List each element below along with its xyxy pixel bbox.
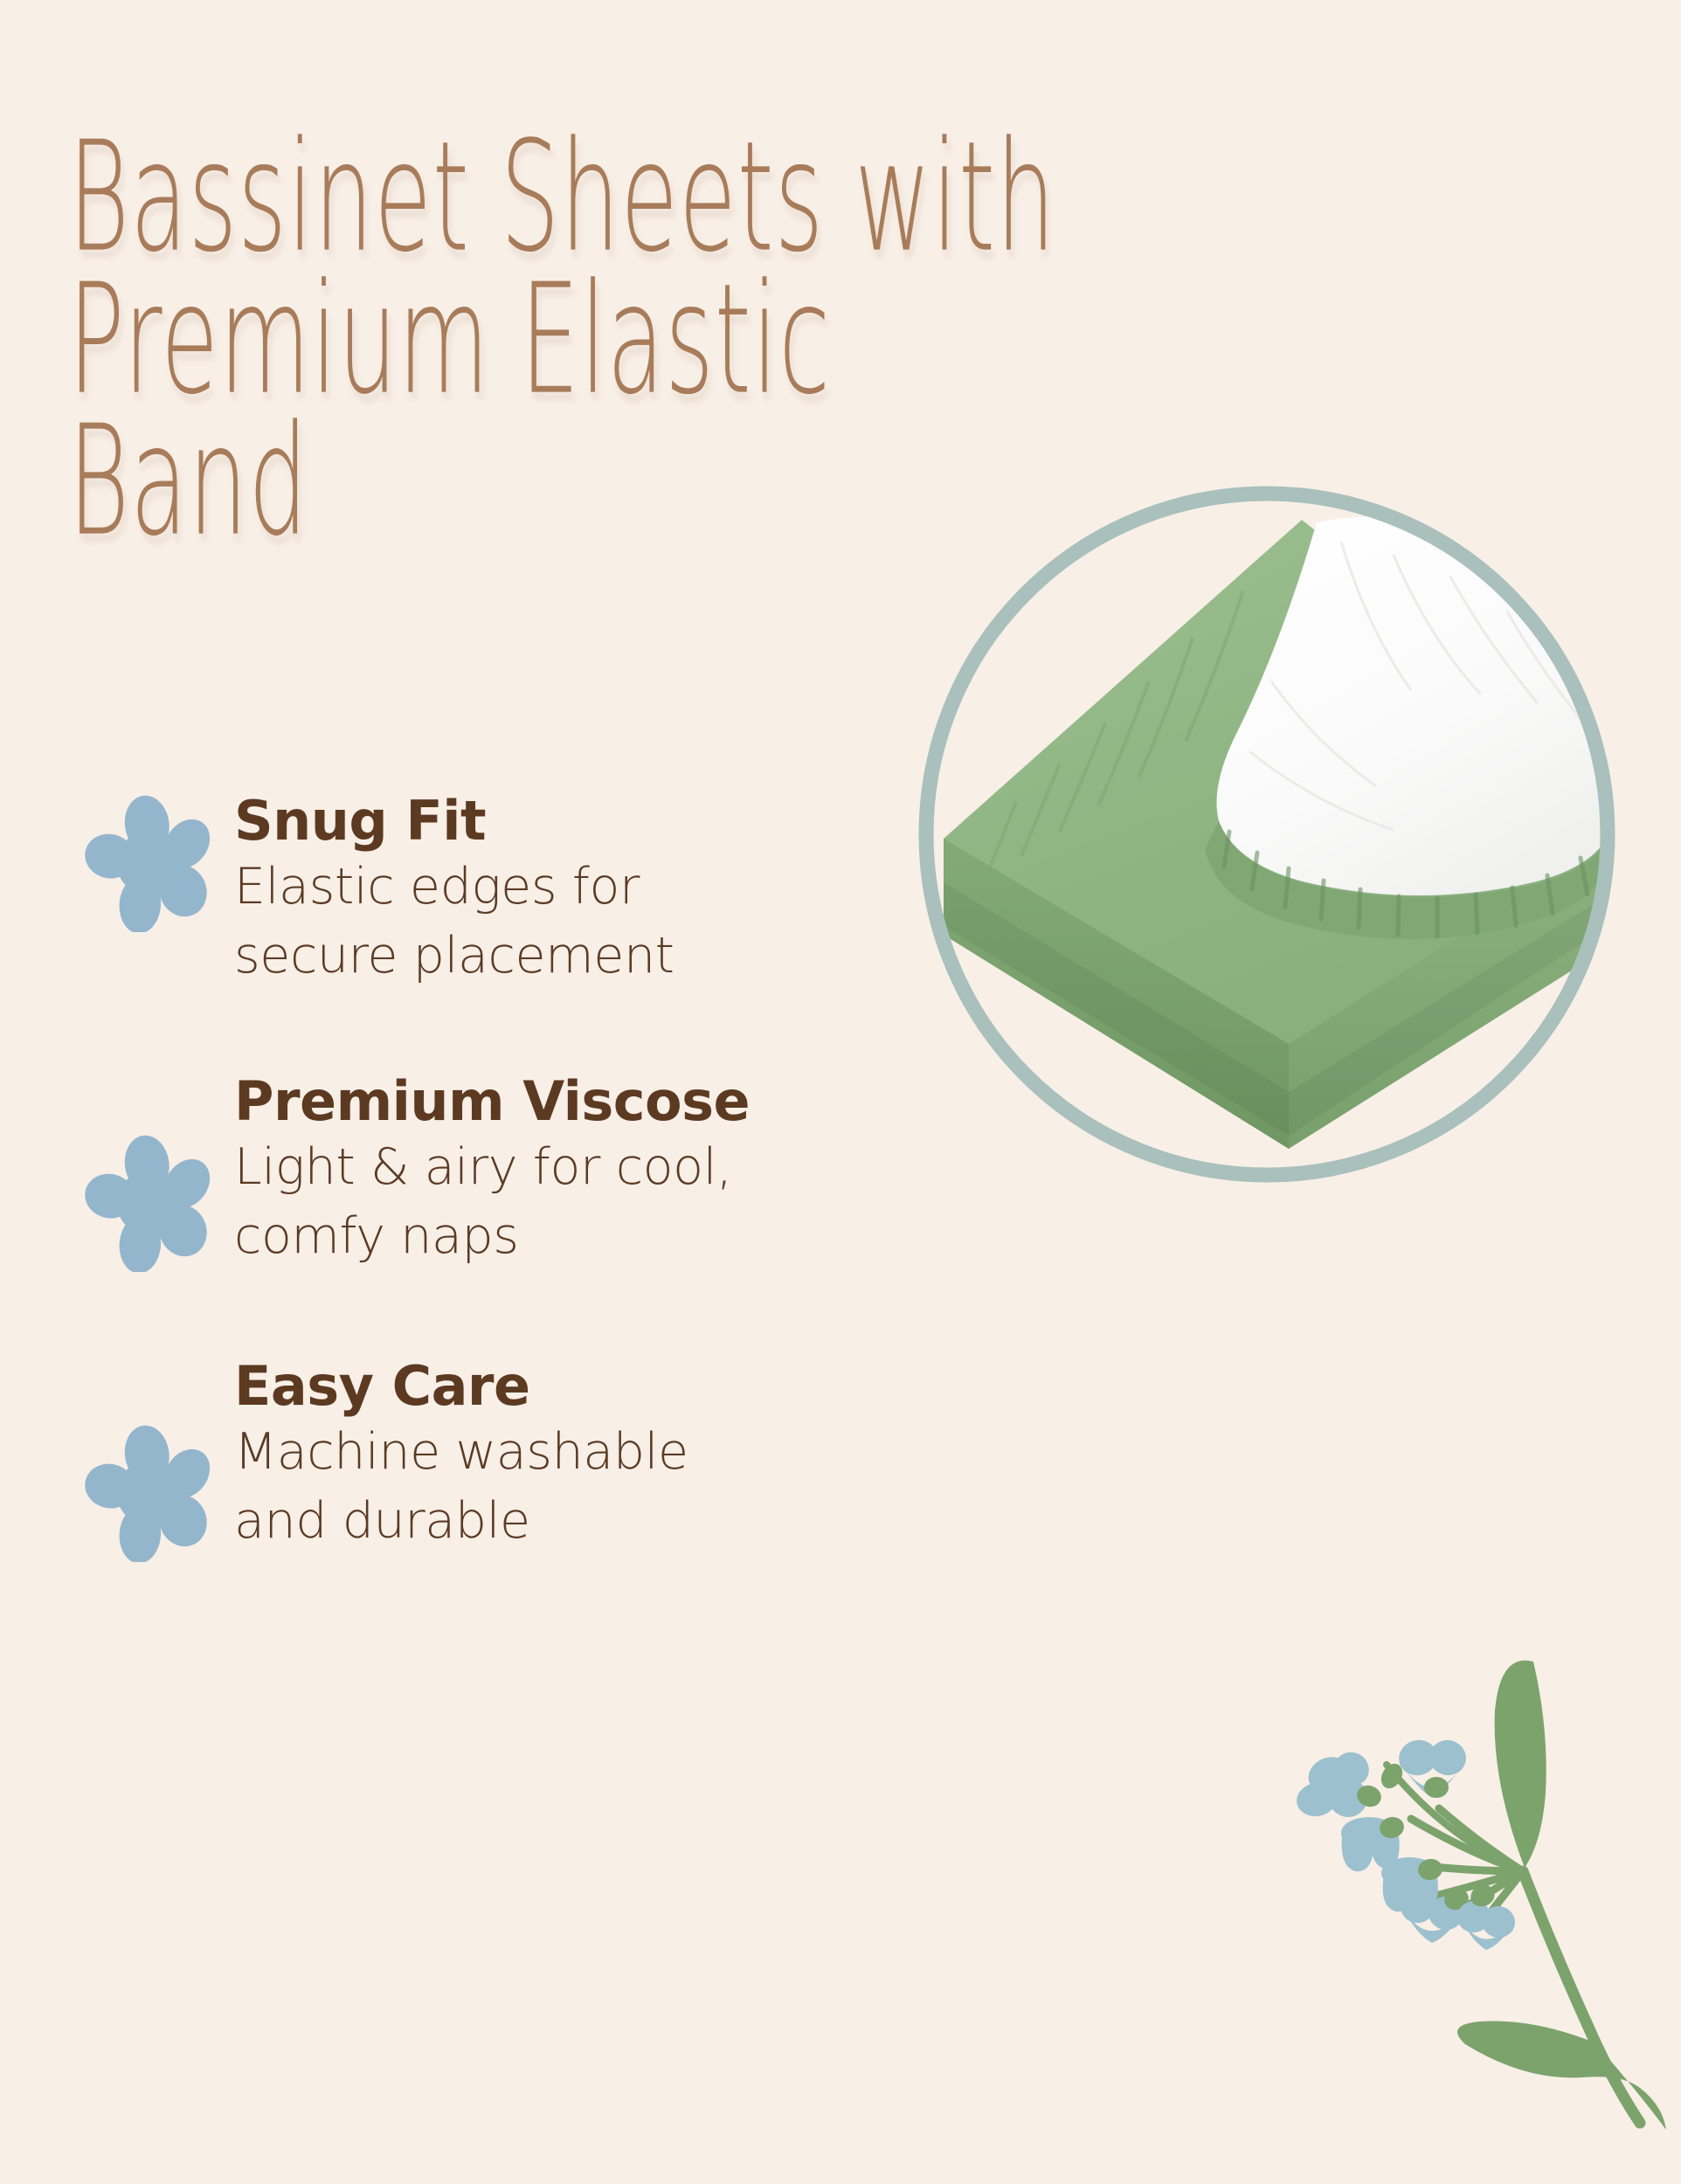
flower-icon-wrap-2 bbox=[68, 1071, 234, 1272]
feature-text-2: Premium Viscose Light & airy for cool, c… bbox=[234, 1071, 942, 1271]
feature-title: Premium Viscose bbox=[234, 1071, 942, 1131]
feature-text-3: Easy Care Machine washable and durable bbox=[234, 1356, 942, 1556]
feature-desc-line-1: Machine washable bbox=[234, 1418, 898, 1487]
flower-icon bbox=[82, 794, 220, 932]
feature-item-snug-fit: Snug Fit Elastic edges for secure placem… bbox=[68, 791, 942, 991]
product-photo-content bbox=[904, 472, 1629, 1197]
feature-desc-line-2: comfy naps bbox=[234, 1202, 898, 1271]
feature-desc-line-1: Light & airy for cool, bbox=[234, 1133, 898, 1202]
poster-canvas: Bassinet Sheets with Premium Elastic Ban… bbox=[0, 0, 1681, 2184]
feature-desc-line-1: Elastic edges for bbox=[234, 853, 898, 922]
bell-flower-1 bbox=[1294, 1746, 1375, 1821]
feature-desc-line-2: and durable bbox=[234, 1487, 898, 1556]
flower-icon-wrap-3 bbox=[68, 1356, 234, 1562]
feature-item-easy-care: Easy Care Machine washable and durable bbox=[68, 1356, 942, 1562]
upper-leaf bbox=[1495, 1661, 1546, 1868]
feature-desc-line-2: secure placement bbox=[234, 922, 898, 991]
flower-icon-wrap-1 bbox=[68, 791, 234, 932]
product-image-circle bbox=[904, 472, 1629, 1197]
main-stem bbox=[1523, 1871, 1640, 2123]
product-image-svg bbox=[904, 472, 1629, 1197]
botanical-sprig-svg bbox=[1245, 1634, 1681, 2184]
feature-list: Snug Fit Elastic edges for secure placem… bbox=[68, 791, 942, 1630]
feature-text-1: Snug Fit Elastic edges for secure placem… bbox=[234, 791, 942, 991]
feature-item-premium-viscose: Premium Viscose Light & airy for cool, c… bbox=[68, 1071, 942, 1272]
feature-title: Snug Fit bbox=[234, 791, 942, 851]
flower-icon bbox=[82, 1134, 220, 1272]
botanical-decoration bbox=[1245, 1634, 1681, 2184]
feature-title: Easy Care bbox=[234, 1356, 942, 1416]
calyx-2 bbox=[1424, 1777, 1449, 1798]
flower-icon bbox=[82, 1424, 220, 1562]
